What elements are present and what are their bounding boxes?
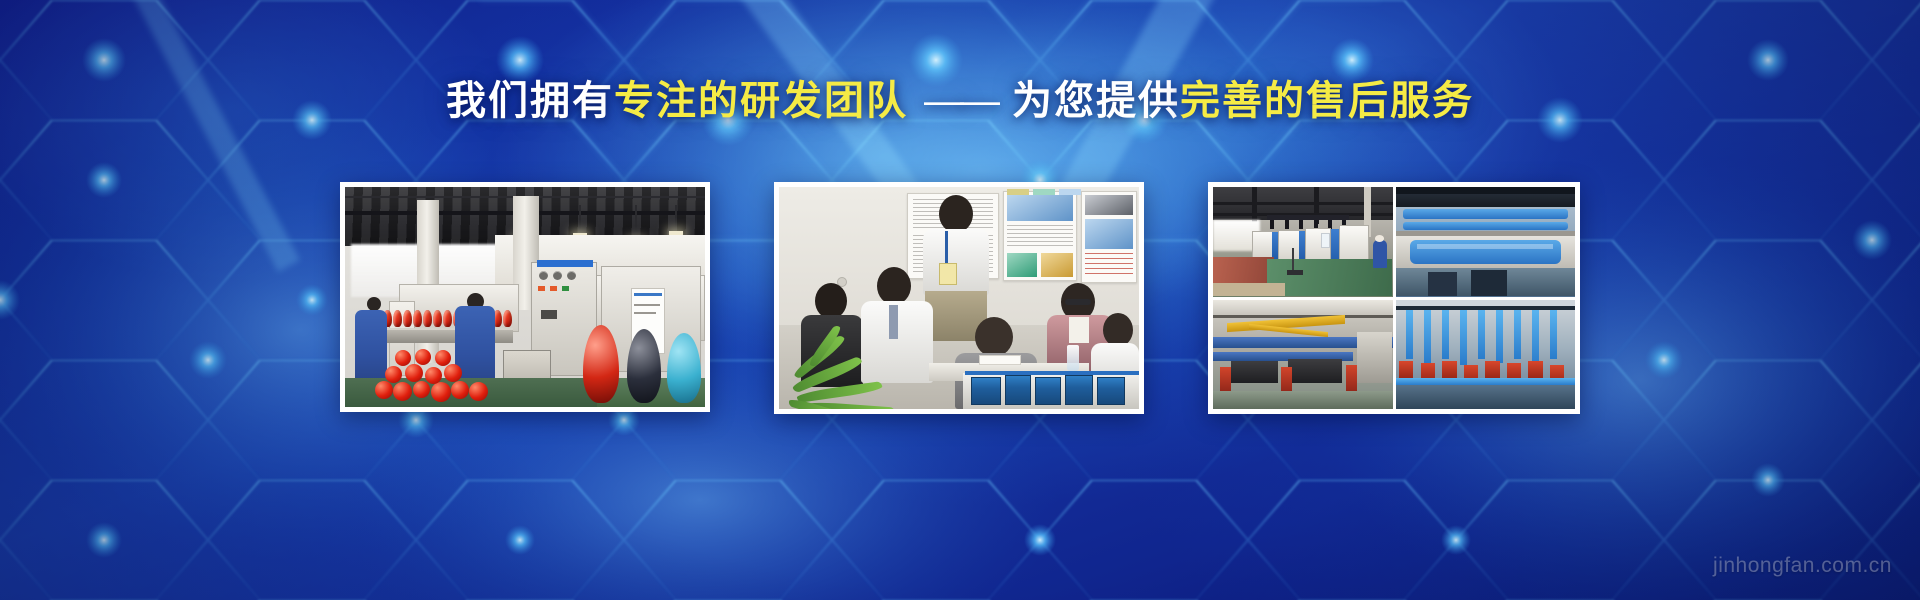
photo-workshop-collage-image <box>1213 187 1575 409</box>
person-standing-head <box>939 195 973 233</box>
photo-production-line-image <box>345 187 705 407</box>
banner-photo-row <box>0 182 1920 414</box>
promo-banner: 我们拥有专注的研发团队 —— 为您提供完善的售后服务 <box>0 0 1920 600</box>
foreground-plant <box>789 337 919 409</box>
collage-cell-hanging-line <box>1396 300 1576 410</box>
collage-cell-duct-tunnel <box>1396 187 1576 297</box>
collage-cell-conveyor-rail <box>1213 300 1393 410</box>
collage-cell-cabinet-row <box>1213 187 1393 297</box>
headline-segment-1: 我们拥有 <box>446 79 614 123</box>
person-standing-body <box>923 229 989 295</box>
headline-dash: —— <box>918 78 1002 124</box>
headline-segment-3: 为您提供 <box>1012 79 1180 123</box>
site-watermark: jinhongfan.com.cn <box>1713 554 1892 578</box>
photo-rnd-meeting[interactable] <box>774 182 1144 414</box>
photo-rnd-meeting-image <box>779 187 1139 409</box>
headline-segment-4: 完善的售后服务 <box>1180 79 1474 123</box>
photo-workshop-collage[interactable] <box>1208 182 1580 414</box>
headline-segment-2: 专注的研发团队 <box>614 79 908 123</box>
banner-headline: 我们拥有专注的研发团队 —— 为您提供完善的售后服务 <box>0 78 1920 124</box>
photo-production-line[interactable] <box>340 182 710 412</box>
